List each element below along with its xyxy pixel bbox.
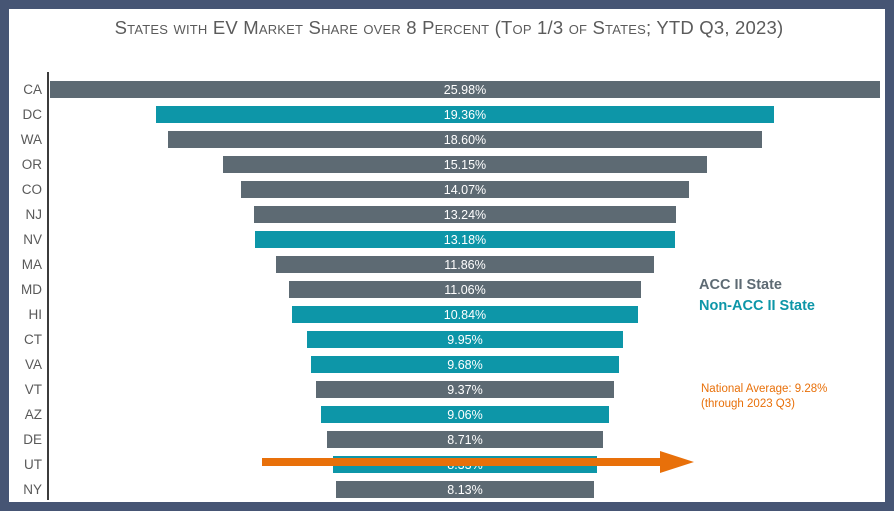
annotation-line-2: (through 2023 Q3): [701, 397, 883, 412]
bar-ct: 9.95%: [306, 330, 625, 349]
category-label-va: VA: [9, 352, 42, 377]
bar-row: NJ13.24%: [9, 202, 885, 227]
category-label-ut: UT: [9, 452, 42, 477]
bar-va: 9.68%: [310, 355, 620, 374]
bar-row: NV13.18%: [9, 227, 885, 252]
bar-az: 9.06%: [320, 405, 610, 424]
bar-nv: 13.18%: [254, 230, 676, 249]
legend: ACC II State Non-ACC II State: [699, 275, 884, 317]
national-average-annotation: National Average: 9.28% (through 2023 Q3…: [701, 382, 883, 412]
bar-row: DC19.36%: [9, 102, 885, 127]
bar-de: 8.71%: [326, 430, 605, 449]
category-label-ma: MA: [9, 252, 42, 277]
category-label-ct: CT: [9, 327, 42, 352]
bar-vt: 9.37%: [315, 380, 615, 399]
bar-ma: 11.86%: [275, 255, 655, 274]
bar-row: MA11.86%: [9, 252, 885, 277]
category-label-ny: NY: [9, 477, 42, 502]
bar-value-de: 8.71%: [447, 433, 482, 447]
bar-row: VA9.68%: [9, 352, 885, 377]
bar-value-or: 15.15%: [444, 158, 486, 172]
bar-value-co: 14.07%: [444, 183, 486, 197]
category-label-or: OR: [9, 152, 42, 177]
bar-value-hi: 10.84%: [444, 308, 486, 322]
bar-value-va: 9.68%: [447, 358, 482, 372]
bar-md: 11.06%: [288, 280, 642, 299]
bar-or: 15.15%: [222, 155, 707, 174]
bar-value-nj: 13.24%: [444, 208, 486, 222]
bar-value-nv: 13.18%: [444, 233, 486, 247]
slide-frame: States with EV Market Share over 8 Perce…: [0, 0, 894, 511]
bar-value-ct: 9.95%: [447, 333, 482, 347]
bar-ny: 8.13%: [335, 480, 595, 499]
chart-title: States with EV Market Share over 8 Perce…: [49, 15, 849, 41]
bar-hi: 10.84%: [291, 305, 638, 324]
legend-item-acc: ACC II State: [699, 275, 884, 296]
bar-value-ma: 11.86%: [444, 258, 485, 272]
legend-label-acc: ACC II State: [699, 277, 782, 293]
chart-canvas: States with EV Market Share over 8 Perce…: [9, 9, 885, 502]
bar-value-vt: 9.37%: [447, 383, 482, 397]
bar-dc: 19.36%: [155, 105, 775, 124]
bar-wa: 18.60%: [167, 130, 763, 149]
bar-row: CA25.98%: [9, 77, 885, 102]
bar-row: DE8.71%: [9, 427, 885, 452]
category-label-dc: DC: [9, 102, 42, 127]
category-label-nj: NJ: [9, 202, 42, 227]
bar-row: NY8.13%: [9, 477, 885, 502]
category-label-de: DE: [9, 427, 42, 452]
bar-value-wa: 18.60%: [444, 133, 486, 147]
bar-value-dc: 19.36%: [444, 108, 486, 122]
annotation-line-1: National Average: 9.28%: [701, 382, 883, 397]
national-average-arrow-icon: [262, 450, 694, 474]
bar-value-md: 11.06%: [444, 283, 485, 297]
bar-co: 14.07%: [240, 180, 691, 199]
category-label-hi: HI: [9, 302, 42, 327]
bar-row: OR15.15%: [9, 152, 885, 177]
bar-row: CT9.95%: [9, 327, 885, 352]
category-label-co: CO: [9, 177, 42, 202]
category-label-wa: WA: [9, 127, 42, 152]
legend-label-non-acc: Non-ACC II State: [699, 298, 815, 314]
bar-value-az: 9.06%: [447, 408, 482, 422]
category-label-md: MD: [9, 277, 42, 302]
bar-value-ny: 8.13%: [447, 483, 482, 497]
bar-value-ca: 25.98%: [444, 83, 486, 97]
category-label-vt: VT: [9, 377, 42, 402]
category-label-ca: CA: [9, 77, 42, 102]
legend-item-non-acc: Non-ACC II State: [699, 296, 884, 317]
bar-row: CO14.07%: [9, 177, 885, 202]
bar-nj: 13.24%: [253, 205, 677, 224]
category-label-az: AZ: [9, 402, 42, 427]
bar-row: WA18.60%: [9, 127, 885, 152]
category-label-nv: NV: [9, 227, 42, 252]
bar-ca: 25.98%: [49, 80, 881, 99]
